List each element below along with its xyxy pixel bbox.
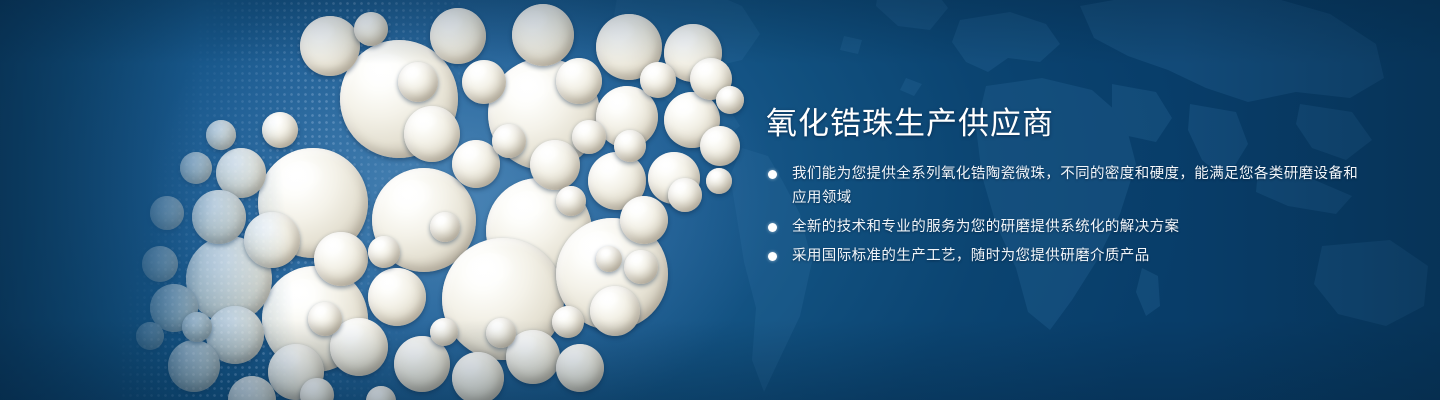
page-title: 氧化锆珠生产供应商 [766,104,1366,144]
list-item-label: 全新的技术和专业的服务为您的研磨提供系统化的解决方案 [792,215,1366,239]
list-item: 全新的技术和专业的服务为您的研磨提供系统化的解决方案 [766,215,1366,239]
feature-list: 我们能为您提供全系列氧化锆陶瓷微珠，不同的密度和硬度，能满足您各类研磨设备和应用… [766,162,1366,268]
bullet-dot-icon [768,223,777,232]
banner-copy: 氧化锆珠生产供应商 我们能为您提供全系列氧化锆陶瓷微珠，不同的密度和硬度，能满足… [766,104,1366,273]
hero-banner: 氧化锆珠生产供应商 我们能为您提供全系列氧化锆陶瓷微珠，不同的密度和硬度，能满足… [0,0,1440,400]
list-item: 我们能为您提供全系列氧化锆陶瓷微珠，不同的密度和硬度，能满足您各类研磨设备和应用… [766,162,1366,210]
zirconia-beads-image [0,0,760,400]
list-item-label: 我们能为您提供全系列氧化锆陶瓷微珠，不同的密度和硬度，能满足您各类研磨设备和应用… [792,162,1366,210]
bullet-dot-icon [768,252,777,261]
bullet-dot-icon [768,170,777,179]
list-item: 采用国际标准的生产工艺，随时为您提供研磨介质产品 [766,244,1366,268]
list-item-label: 采用国际标准的生产工艺，随时为您提供研磨介质产品 [792,244,1366,268]
